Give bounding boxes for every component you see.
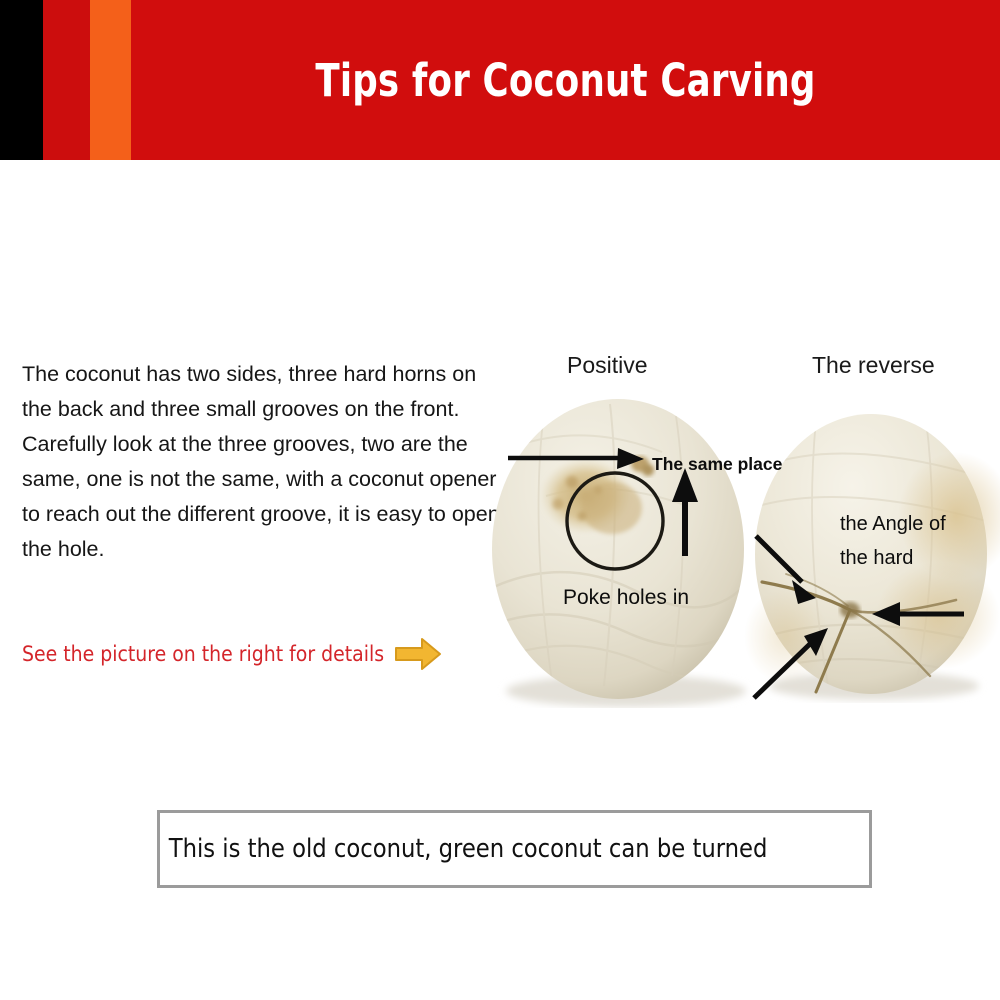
label-positive: Positive: [567, 352, 648, 379]
footer-note-text: This is the old coconut, green coconut c…: [160, 834, 767, 864]
red-stripe: [43, 0, 90, 160]
coconut-photo: [486, 386, 1000, 708]
header-banner: Tips for Coconut Carving: [0, 0, 1000, 160]
annotation-angle-line2: the hard: [840, 547, 913, 570]
coconut-left: [490, 399, 748, 699]
cta-label: See the picture on the right for details: [22, 642, 384, 666]
black-stripe: [0, 0, 43, 160]
right-arrow-icon: [394, 637, 442, 671]
footer-note-box: This is the old coconut, green coconut c…: [157, 810, 872, 888]
page-title: Tips for Coconut Carving: [183, 0, 948, 160]
label-the-reverse: The reverse: [812, 352, 935, 379]
annotation-poke-holes: Poke holes in: [563, 586, 689, 610]
annotation-same-place: The same place: [652, 454, 782, 475]
annotation-angle-line1: the Angle of: [840, 513, 946, 536]
orange-stripe: [90, 0, 131, 160]
body-paragraph: The coconut has two sides, three hard ho…: [22, 357, 502, 567]
cta-row: See the picture on the right for details: [22, 637, 442, 671]
